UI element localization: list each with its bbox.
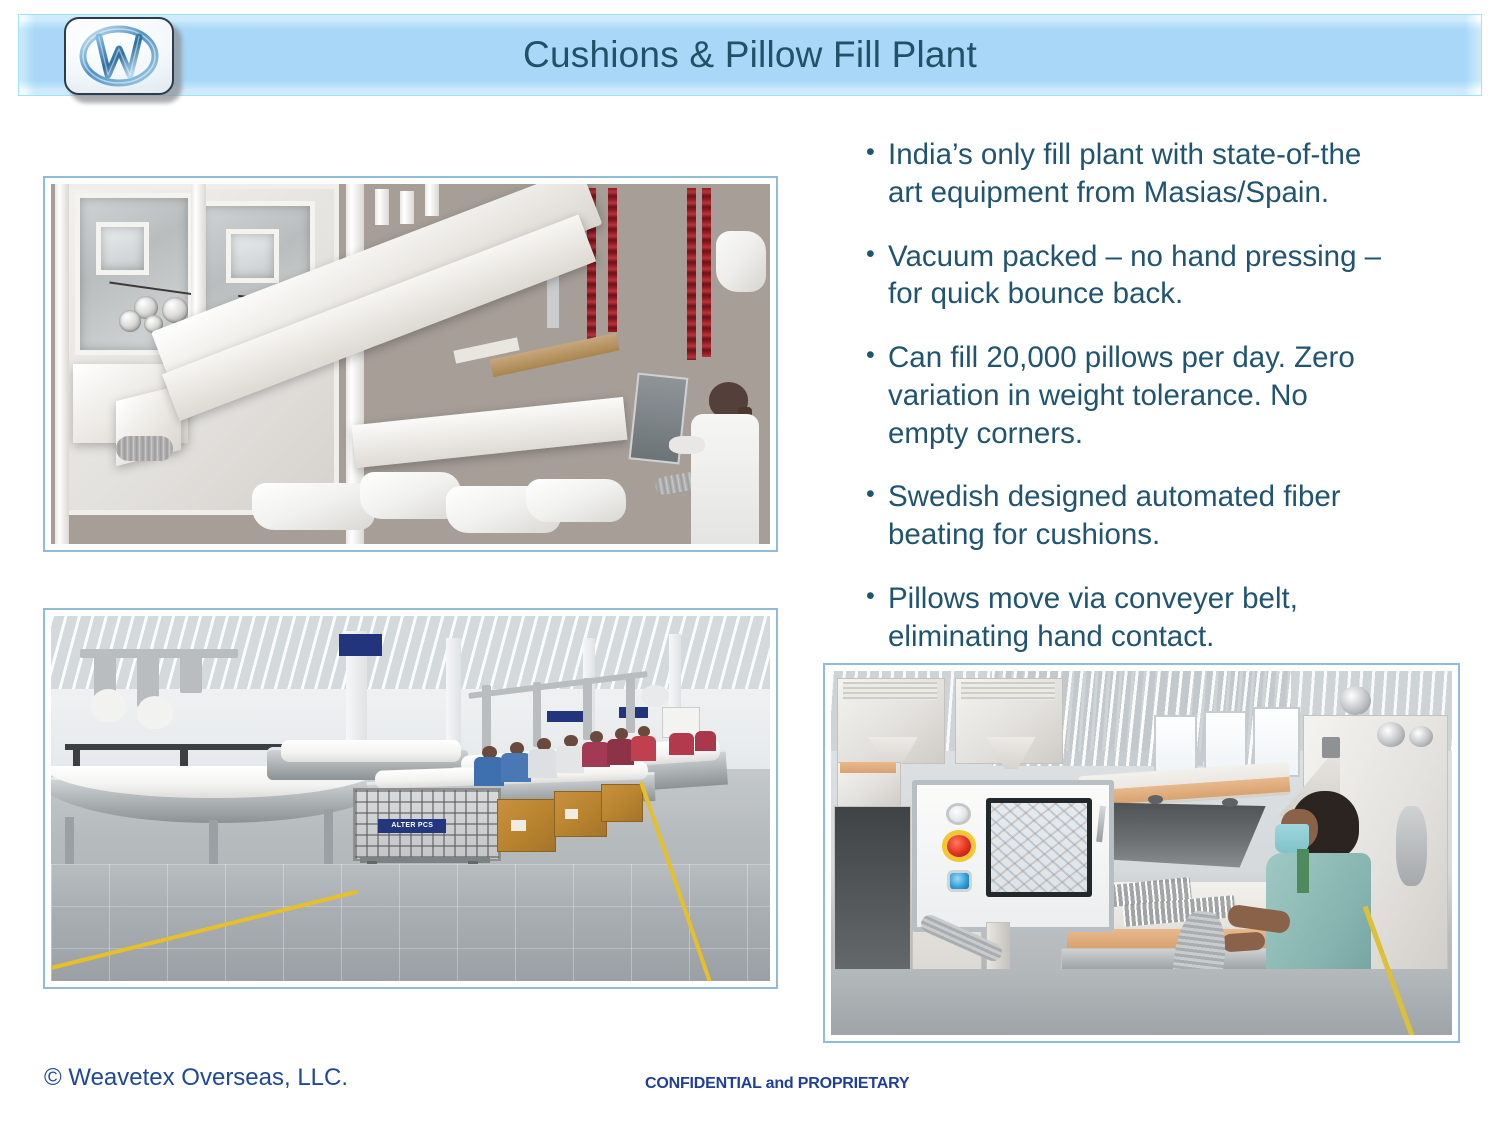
indicator-lamp[interactable]	[949, 806, 968, 822]
feature-bullet-list: • India’s only fill plant with state-of-…	[866, 136, 1466, 681]
bullet-marker-icon: •	[866, 136, 888, 170]
operator-hmi-control-photo	[823, 663, 1460, 1043]
weavetex-w-logo-icon	[64, 17, 174, 95]
list-item: • Can fill 20,000 pillows per day. Zero …	[866, 339, 1466, 452]
hmi-touchscreen[interactable]	[986, 798, 1092, 896]
bullet-marker-icon: •	[866, 478, 888, 512]
company-logo[interactable]	[64, 17, 182, 102]
bullet-text: Vacuum packed – no hand pressing – for q…	[888, 238, 1466, 314]
bullet-marker-icon: •	[866, 339, 888, 373]
factory-floor-conveyor-photo: ALTER PCS	[43, 608, 778, 989]
list-item: • Vacuum packed – no hand pressing – for…	[866, 238, 1466, 314]
confidentiality-notice: CONFIDENTIAL and PROPRIETARY	[645, 1075, 909, 1093]
hanging-chain	[687, 188, 696, 361]
blue-push-button[interactable]	[950, 873, 969, 889]
copyright-notice: © Weavetex Overseas, LLC.	[44, 1064, 348, 1092]
bullet-text: Pillows move via conveyer belt, eliminat…	[888, 580, 1466, 656]
bullet-text: Swedish designed automated fiber beating…	[888, 478, 1466, 554]
list-item: • Pillows move via conveyer belt, elimin…	[866, 580, 1466, 656]
overhead-sign	[339, 634, 382, 656]
fiber-opening-machine-photo	[43, 176, 778, 552]
cage-label: ALTER PCS	[378, 819, 446, 834]
hanging-chain	[608, 188, 617, 332]
hanging-chain	[702, 188, 711, 357]
slide-header-banner: Cushions & Pillow Fill Plant	[18, 14, 1482, 96]
bullet-text: India’s only fill plant with state-of-th…	[888, 136, 1466, 212]
list-item: • Swedish designed automated fiber beati…	[866, 478, 1466, 554]
list-item: • India’s only fill plant with state-of-…	[866, 136, 1466, 212]
bullet-text: Can fill 20,000 pillows per day. Zero va…	[888, 339, 1466, 452]
page-title: Cushions & Pillow Fill Plant	[19, 15, 1481, 95]
emergency-stop-button[interactable]	[947, 835, 972, 857]
bullet-marker-icon: •	[866, 238, 888, 272]
bullet-marker-icon: •	[866, 580, 888, 614]
